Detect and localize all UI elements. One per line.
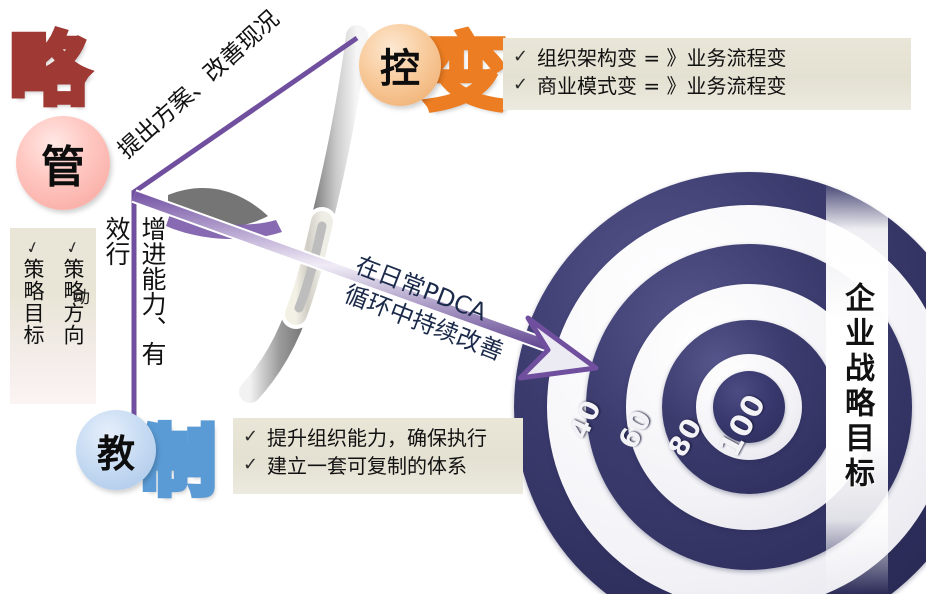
- capability-small-char: 动: [73, 283, 90, 308]
- check-icon: ✓: [24, 237, 42, 258]
- check-icon: ✓: [513, 44, 537, 70]
- note-row: ✓ 商业模式变 = 》业务流程变: [513, 72, 899, 100]
- note-capability: ✓ 提升组织能力，确保执行 ✓ 建立一套可复制的体系: [233, 418, 523, 494]
- bubble-guan[interactable]: 管: [16, 116, 110, 210]
- note-row: ✓ 建立一套可复制的体系: [243, 452, 511, 480]
- note-row: ✓ 组织架构变 = 》业务流程变: [513, 44, 899, 72]
- bubble-jiao[interactable]: 教: [76, 410, 156, 490]
- note-row-text: 商业模式变 = 》业务流程变: [537, 72, 786, 100]
- strategy-item-goal-label: 策略目标: [18, 258, 48, 346]
- capability-vertical-text: 增进能力、有效行: [98, 216, 170, 388]
- check-icon: ✓: [243, 452, 267, 478]
- check-icon: ✓: [513, 72, 537, 98]
- strategy-box: ✓ 策略方向 ✓ 策略目标: [10, 228, 96, 404]
- strategy-item-goal[interactable]: ✓ 策略目标: [13, 238, 53, 404]
- note-row-text: 建立一套可复制的体系: [267, 452, 467, 480]
- note-change: ✓ 组织架构变 = 》业务流程变 ✓ 商业模式变 = 》业务流程变: [503, 38, 911, 110]
- note-row-text: 组织架构变 = 》业务流程变: [537, 44, 786, 72]
- note-row: ✓ 提升组织能力，确保执行: [243, 424, 511, 452]
- check-icon: ✓: [64, 237, 82, 258]
- bubble-kong[interactable]: 控: [359, 24, 441, 106]
- note-row-text: 提升组织能力，确保执行: [267, 424, 487, 452]
- slide-canvas: 40 60 80 100 企业战略目标: [0, 0, 926, 594]
- strategy-item-direction[interactable]: ✓ 策略方向: [53, 238, 93, 404]
- check-icon: ✓: [243, 424, 267, 450]
- outline-char-lve: 略: [10, 8, 88, 120]
